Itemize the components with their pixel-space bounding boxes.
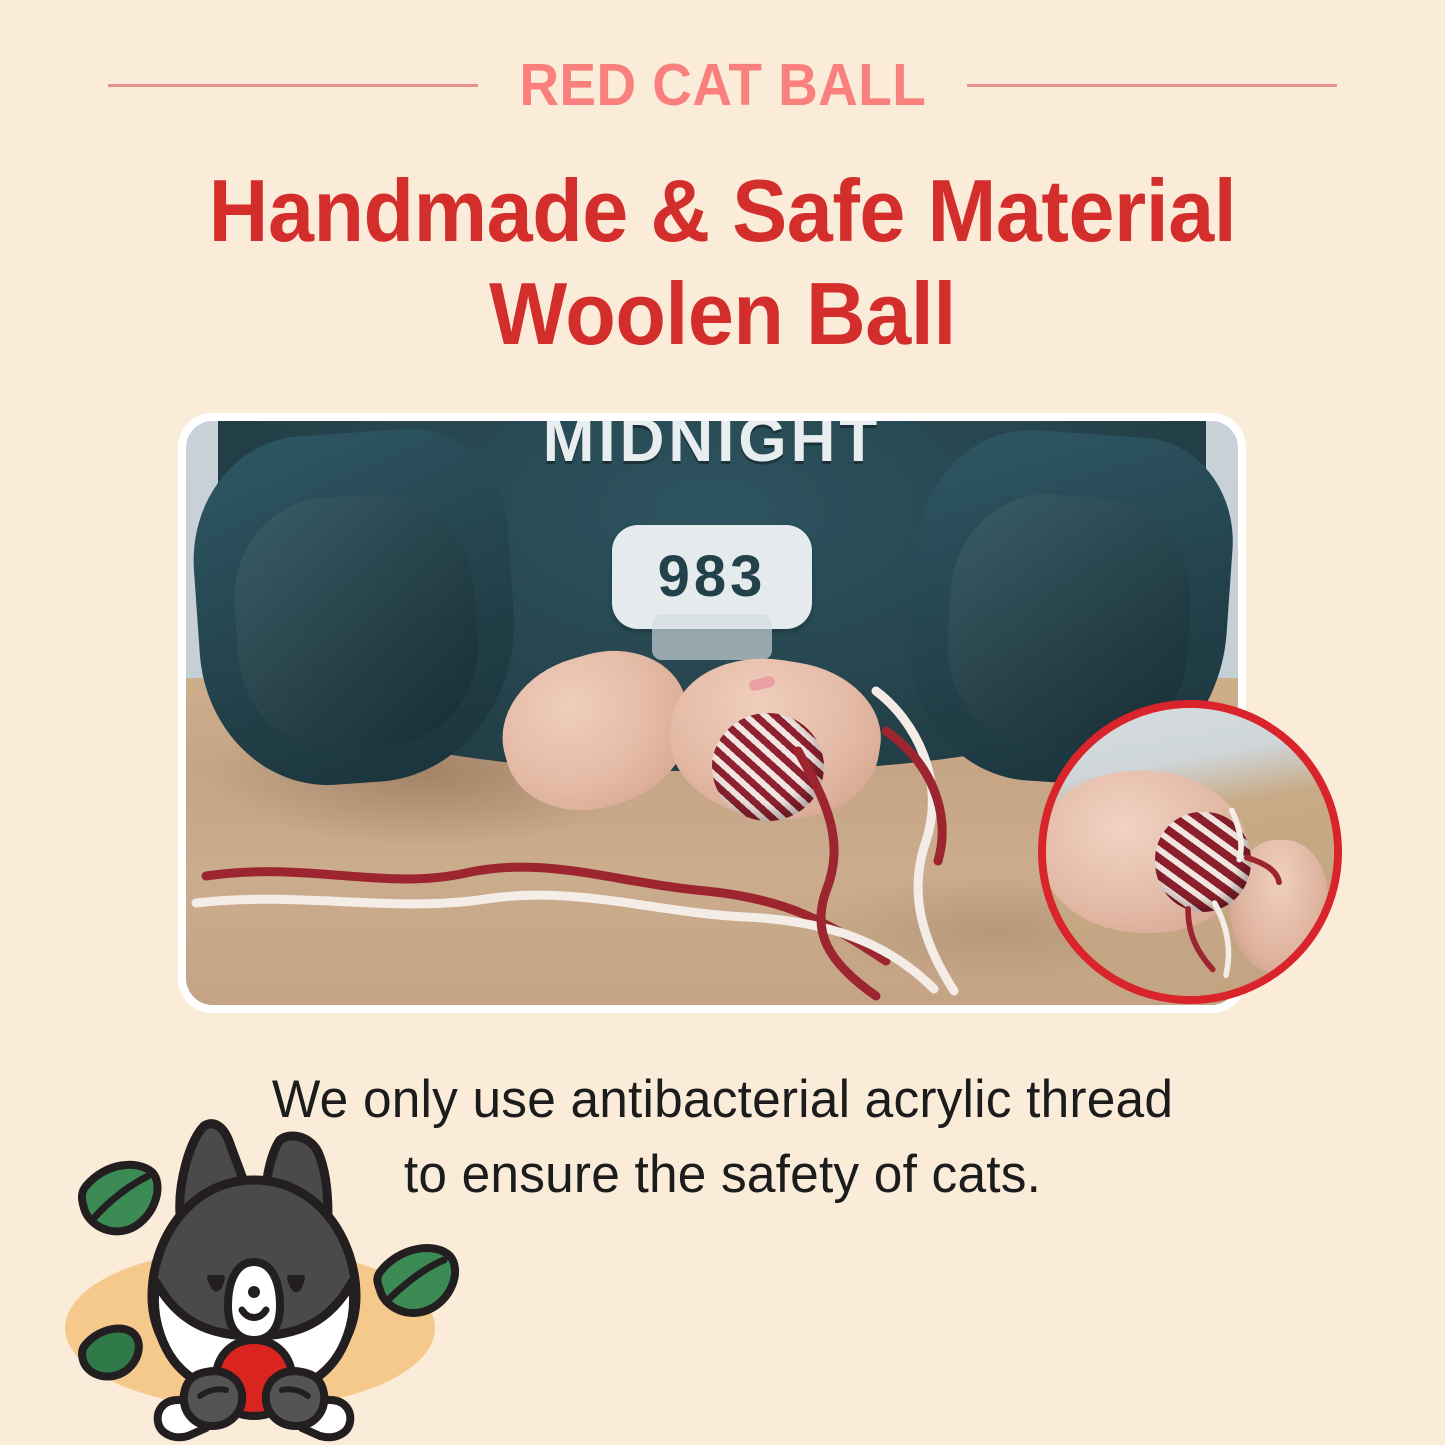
leaf-icon-upper-left [82,1165,158,1232]
mascot-eye-left [210,1278,222,1289]
mascot-muzzle [228,1262,280,1340]
mascot-nose [248,1286,260,1298]
closeup-inset-circle [1038,700,1342,1004]
eyebrow-rule-left [108,84,478,87]
inset-yarn-strands [1046,708,1334,996]
cat-mascot [28,1110,498,1445]
page-title-line-1: Handmade & Safe Material [43,160,1401,263]
leaf-icon-right [377,1248,455,1313]
eyebrow-header: RED CAT BALL [0,47,1445,123]
page-title: Handmade & Safe Material Woolen Ball [0,160,1445,366]
mascot-eye-right [290,1278,302,1289]
eyebrow-rule-right [967,84,1337,87]
eyebrow-label: RED CAT BALL [519,56,926,115]
page-title-line-2: Woolen Ball [43,263,1401,366]
leaf-icon-lower-left [82,1329,139,1377]
